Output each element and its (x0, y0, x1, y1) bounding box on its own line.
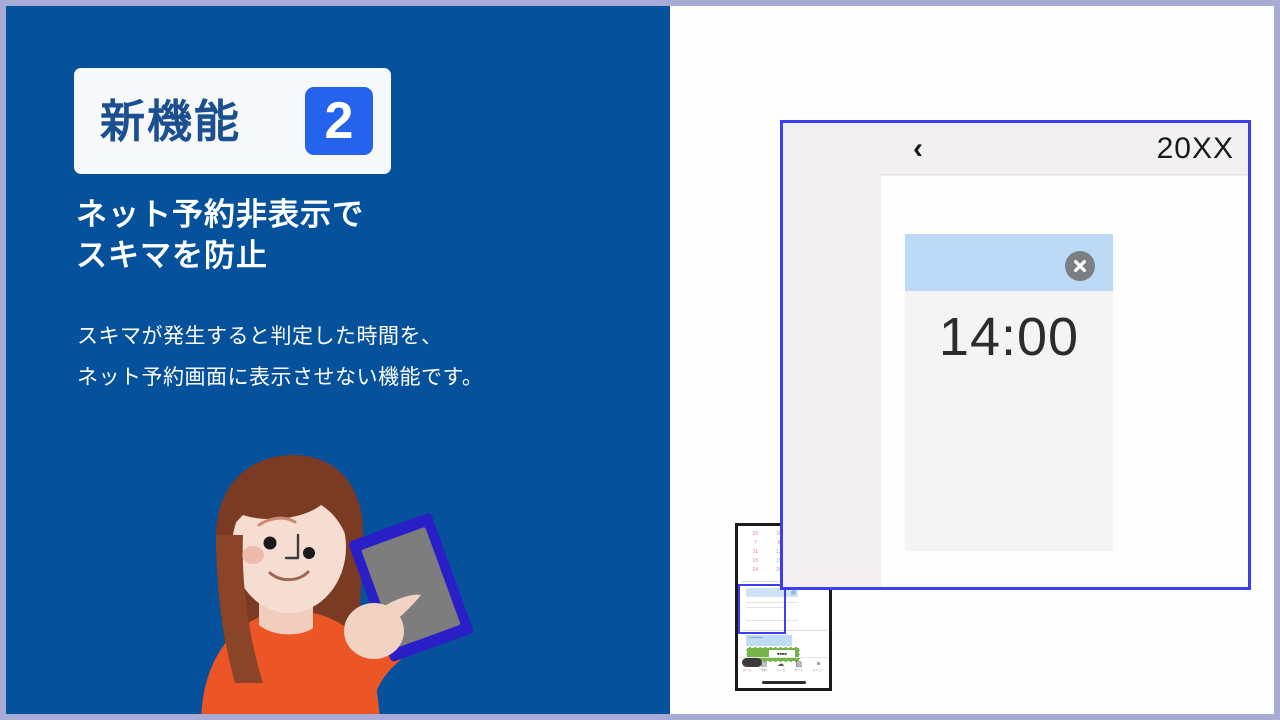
cal-day: 7 (744, 539, 767, 547)
nav-label: ホーム (743, 669, 752, 672)
thumbnail-green-label: ■■■■ (769, 650, 795, 657)
nav-item-card[interactable]: ▧ カード (794, 661, 803, 672)
app-top-bar: ‹ 20XX (881, 123, 1248, 175)
new-feature-label: 新機能 (100, 99, 305, 144)
calendar-icon: ▤ (761, 661, 768, 668)
body-line-1: スキマが発生すると判定した時間を、 (77, 317, 637, 358)
new-feature-badge: 新機能 2 (74, 68, 391, 174)
thumbnail-text-line (746, 620, 798, 621)
cal-day: 11 (744, 548, 767, 556)
time-slot-value: 14:00 (905, 306, 1113, 368)
page-title: ネット予約非表示で スキマを防止 (76, 194, 636, 276)
nav-item-message[interactable]: ☁ メッセ (776, 661, 785, 672)
panel-left-gutter (783, 123, 881, 587)
thumbnail-text-line (746, 602, 798, 603)
thumbnail-slot-close-icon (791, 590, 796, 595)
new-feature-number: 2 (305, 87, 373, 155)
cal-day: 24 (744, 566, 767, 574)
left-blue-panel: 新機能 2 ネット予約非表示で スキマを防止 スキマが発生すると判定した時間を、… (6, 6, 670, 714)
year-label: 20XX (1157, 132, 1234, 166)
cal-day: 15 (744, 557, 767, 565)
chevron-left-icon[interactable]: ‹ (913, 134, 923, 164)
thumbnail-band-line (749, 637, 763, 638)
app-content-area: 14:00 (881, 176, 1248, 587)
cal-day: 25 (744, 530, 767, 538)
time-slot-header (905, 234, 1113, 291)
home-icon: ⌂ (745, 661, 749, 668)
nav-item-home[interactable]: ⌂ ホーム (743, 661, 752, 672)
slide-canvas: 新機能 2 ネット予約非表示で スキマを防止 スキマが発生すると判定した時間を、… (0, 0, 1280, 720)
thumbnail-text-line (746, 607, 786, 608)
illustration-svg (181, 443, 491, 720)
nav-label: 予約 (761, 669, 767, 672)
body-line-2: ネット予約画面に表示させない機能です。 (77, 358, 637, 399)
nav-label: カード (794, 669, 803, 672)
time-slot-card[interactable]: 14:00 (905, 234, 1113, 551)
headline-line-1: ネット予約非表示で (76, 194, 636, 235)
chat-icon: ☁ (777, 661, 784, 668)
description-text: スキマが発生すると判定した時間を、 ネット予約画面に表示させない機能です。 (77, 317, 637, 399)
nav-label: メッセ (776, 669, 785, 672)
nav-label: メニュー (812, 669, 824, 672)
card-icon: ▧ (796, 661, 803, 668)
close-circle-icon[interactable] (1065, 251, 1095, 281)
zoomed-detail-panel: ‹ 20XX 14:00 (780, 120, 1251, 590)
headline-line-2: スキマを防止 (76, 235, 636, 276)
home-indicator (762, 681, 806, 684)
menu-icon: ≡ (816, 661, 820, 668)
woman-with-tablet-illustration (181, 443, 491, 720)
thumbnail-bottom-nav[interactable]: ⌂ ホーム ▤ 予約 ☁ メッセ ▧ カード ≡ メニュー (738, 657, 829, 677)
nav-item-menu[interactable]: ≡ メニュー (812, 661, 824, 672)
nav-item-reservation[interactable]: ▤ 予約 (761, 661, 768, 672)
thumbnail-divider (742, 630, 828, 631)
